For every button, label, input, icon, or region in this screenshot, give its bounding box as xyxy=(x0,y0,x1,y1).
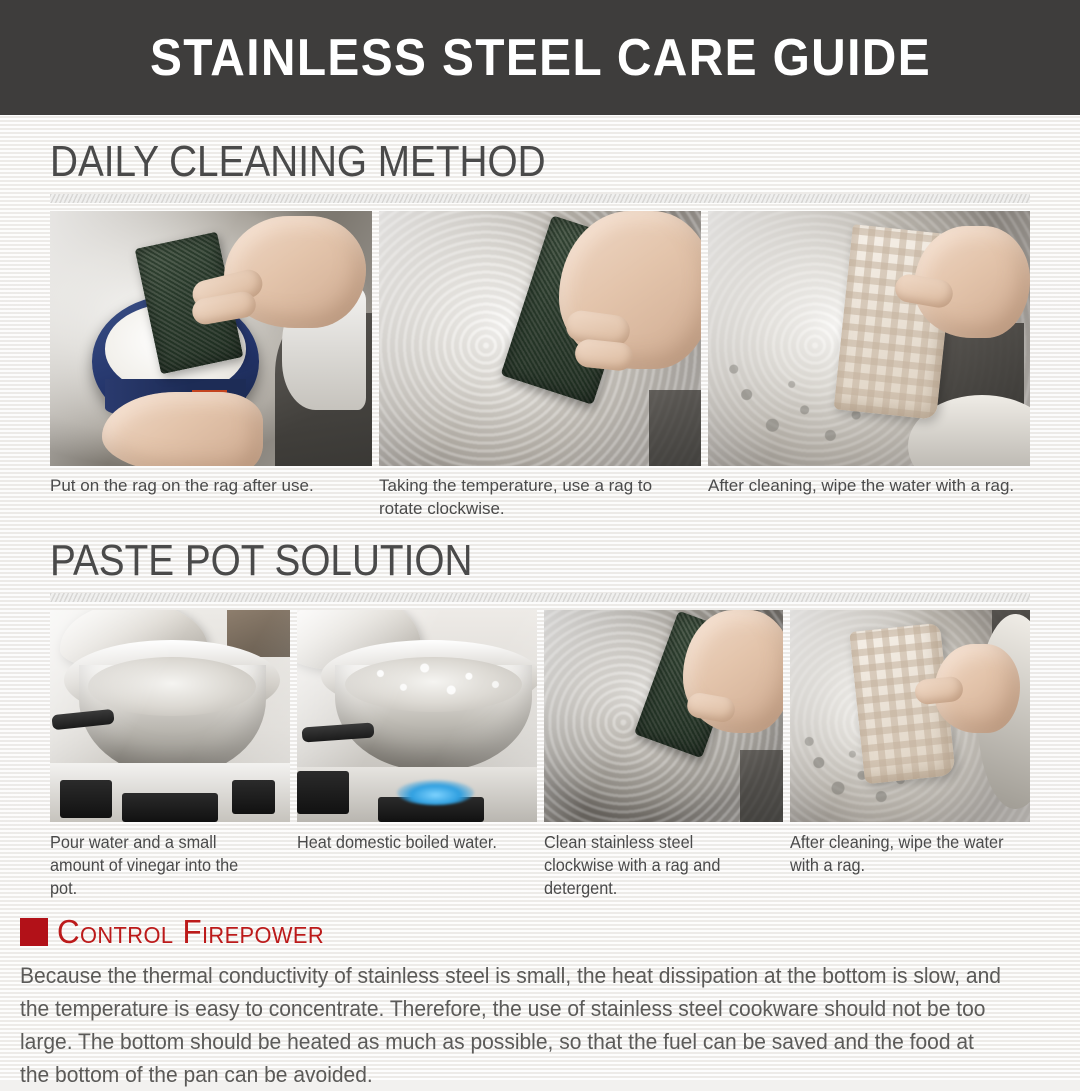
caption-row-daily-cleaning: Put on the rag on the rag after use. Tak… xyxy=(50,475,1030,520)
step-image-clean-clockwise-detergent xyxy=(544,610,784,822)
section-divider xyxy=(50,194,1030,203)
step-image-wipe-with-rag xyxy=(708,211,1030,466)
step-image-scrub-clockwise xyxy=(379,211,701,466)
step-image-wipe-water-rag xyxy=(790,610,1030,822)
step-image-paste-tub xyxy=(50,211,372,466)
photo-row-paste-pot xyxy=(50,610,1030,822)
section-heading-paste-pot-solution: PASTE POT SOLUTION xyxy=(50,536,912,586)
infographic-page: STAINLESS STEEL CARE GUIDE DAILY CLEANIN… xyxy=(0,0,1080,1080)
note-body-text: Because the thermal conductivity of stai… xyxy=(20,959,1006,1091)
step-caption: Pour water and a small amount of vinegar… xyxy=(50,831,273,899)
note-title: Control Firepower xyxy=(57,913,324,951)
step-caption: After cleaning, wipe the water with a ra… xyxy=(708,475,1030,520)
note-heading-row: Control Firepower xyxy=(20,913,1052,951)
step-caption: After cleaning, wipe the water with a ra… xyxy=(790,831,1013,899)
caption-row-paste-pot: Pour water and a small amount of vinegar… xyxy=(50,831,1030,899)
section-daily-cleaning: DAILY CLEANING METHOD xyxy=(0,115,1080,520)
step-image-pour-water-vinegar xyxy=(50,610,290,822)
section-heading-daily-cleaning: DAILY CLEANING METHOD xyxy=(50,137,912,187)
page-header: STAINLESS STEEL CARE GUIDE xyxy=(0,0,1080,115)
section-paste-pot-solution: PASTE POT SOLUTION xyxy=(0,520,1080,899)
page-title: STAINLESS STEEL CARE GUIDE xyxy=(149,28,930,88)
step-caption: Heat domestic boiled water. xyxy=(297,831,520,899)
step-caption: Taking the temperature, use a rag to rot… xyxy=(379,475,701,520)
control-firepower-note: Control Firepower Because the thermal co… xyxy=(0,913,1080,1091)
step-caption: Clean stainless steel clockwise with a r… xyxy=(544,831,767,899)
step-caption: Put on the rag on the rag after use. xyxy=(50,475,372,520)
step-image-heat-boiled-water xyxy=(297,610,537,822)
section-divider xyxy=(50,593,1030,602)
red-square-bullet-icon xyxy=(20,918,48,946)
photo-row-daily-cleaning xyxy=(50,211,1030,466)
